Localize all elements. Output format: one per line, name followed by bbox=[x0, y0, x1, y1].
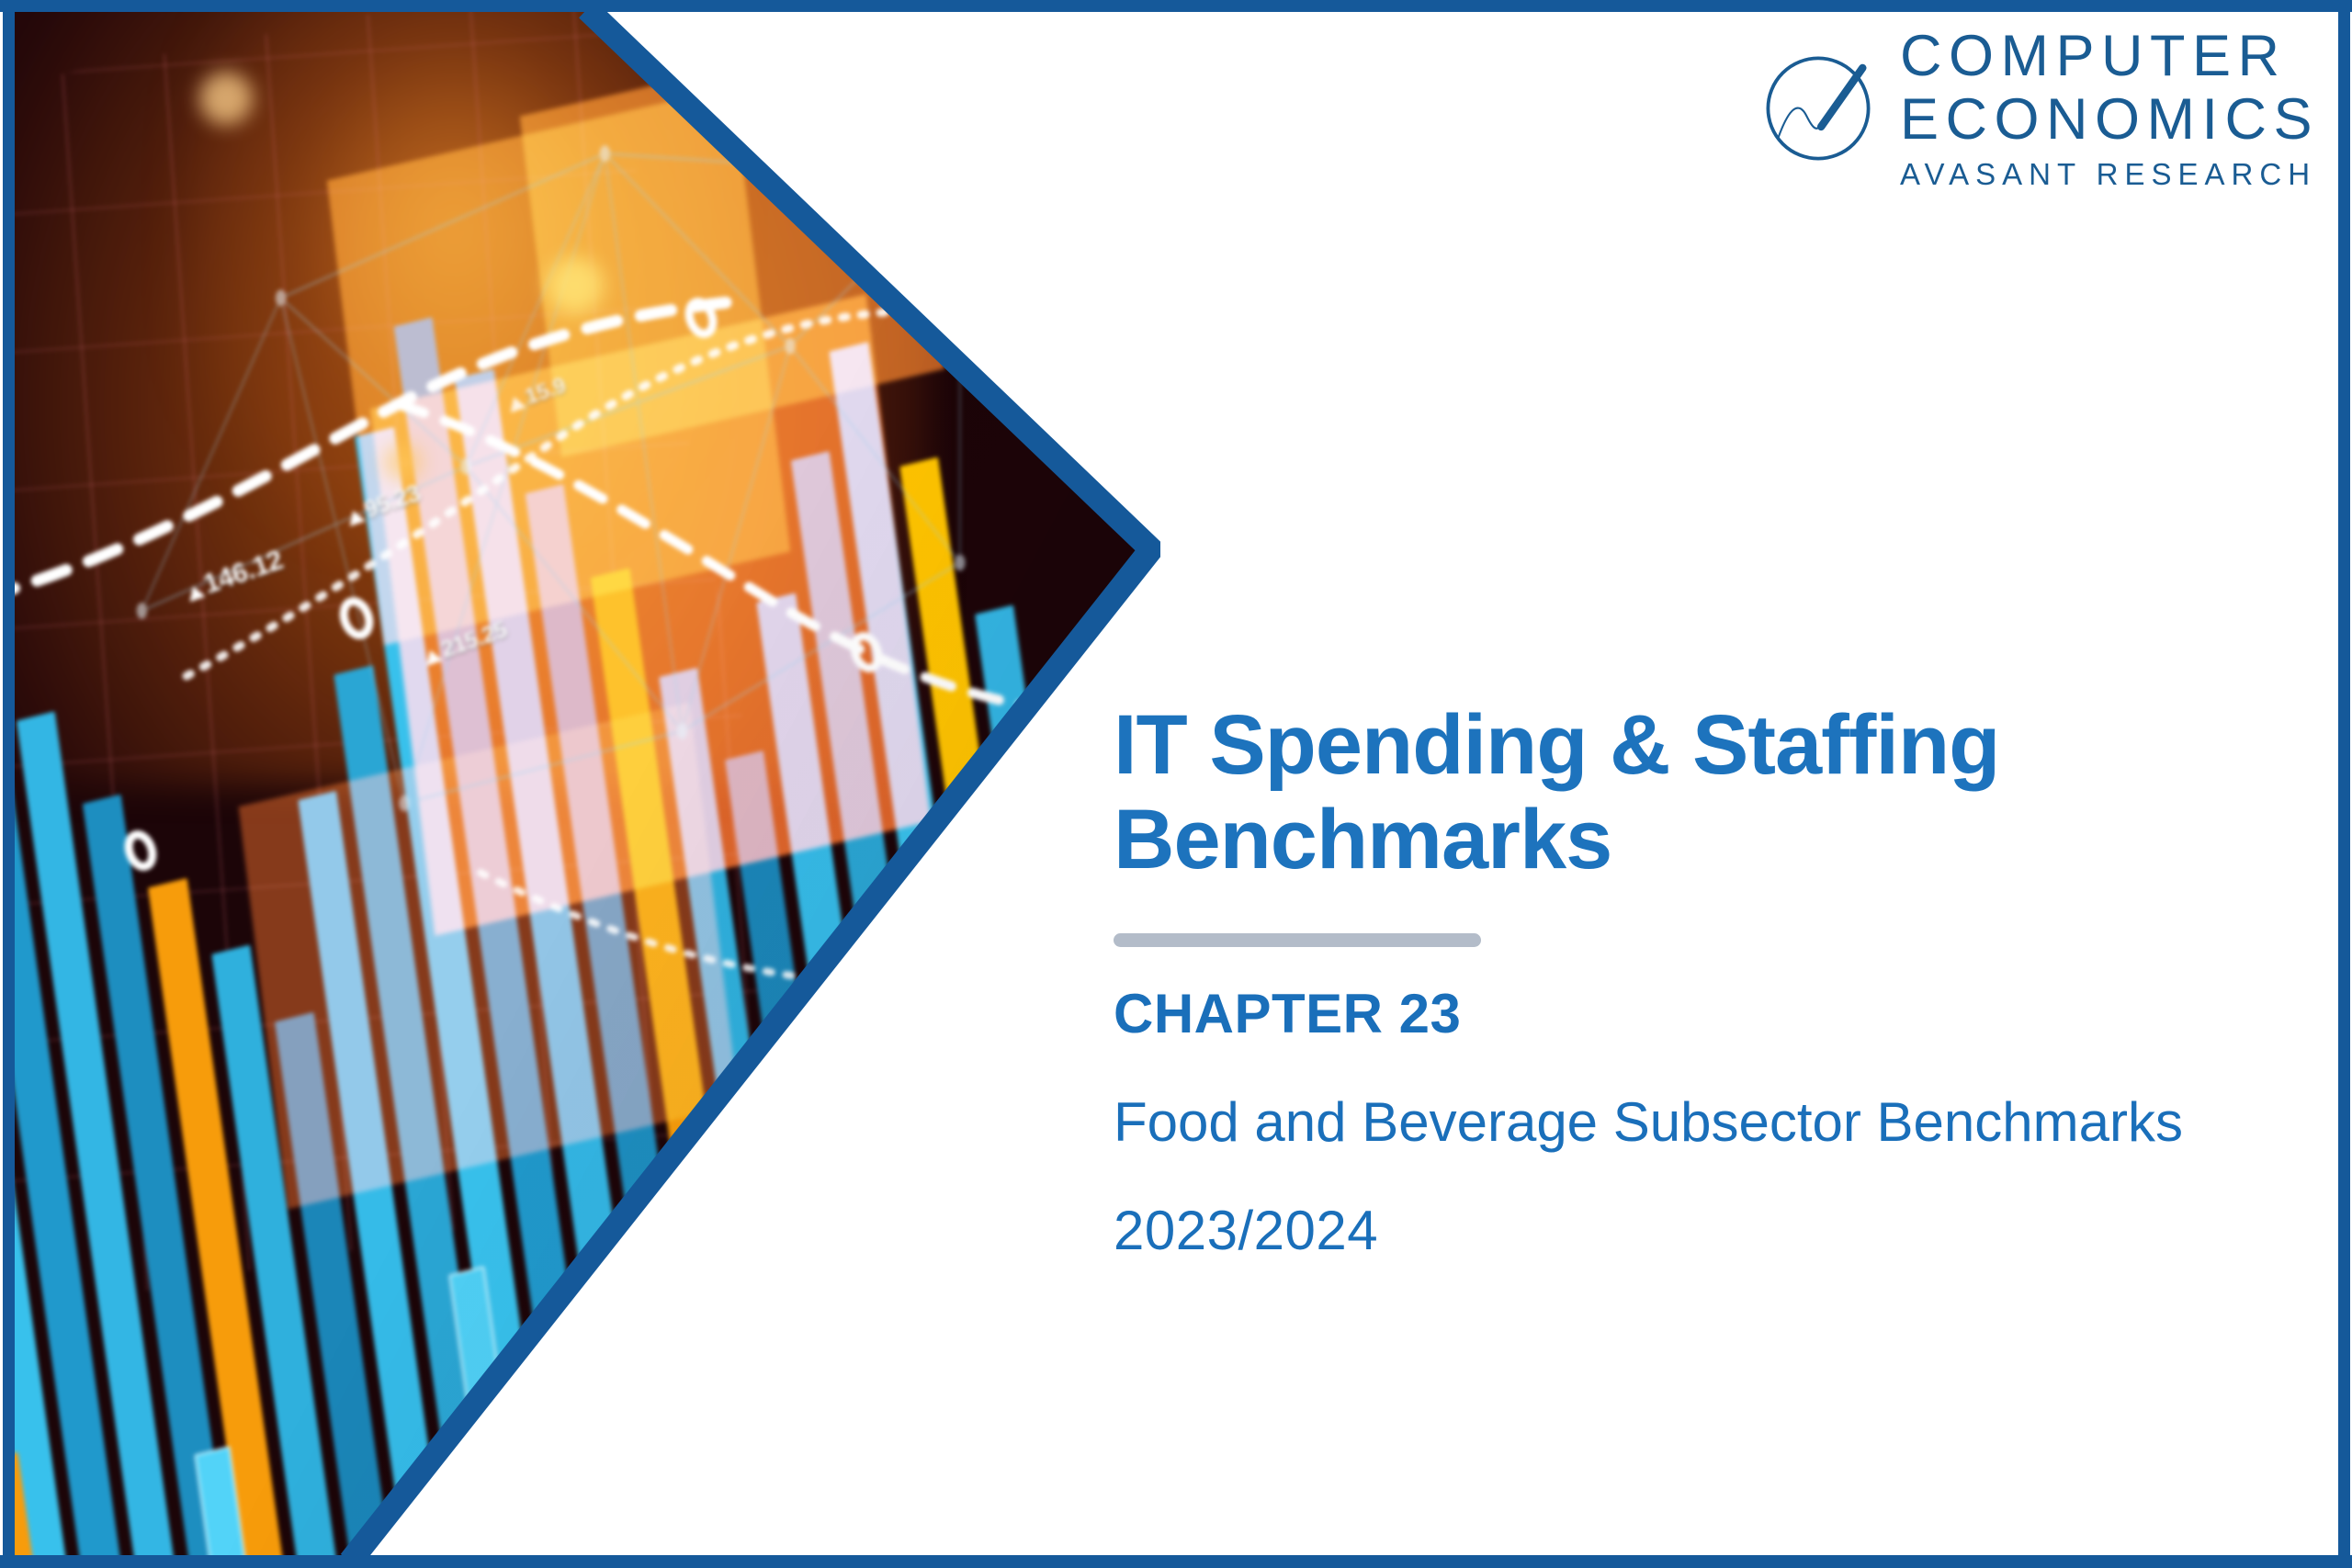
brand-line-avasant-research: AVASANT RESEARCH bbox=[1900, 159, 2319, 189]
cover-artwork: 146.12 95.23 215.25 15.9 bbox=[3, 9, 1160, 1562]
circle-checkmark-logo-icon bbox=[1760, 51, 1876, 166]
cover-slide: 146.12 95.23 215.25 15.9 bbox=[0, 0, 2352, 1568]
triangle-up-icon bbox=[345, 508, 365, 526]
network-mesh-decoration bbox=[96, 9, 1022, 972]
triangle-up-icon bbox=[506, 394, 526, 412]
brand-line-economics: ECONOMICS bbox=[1900, 91, 2319, 149]
title-divider bbox=[1114, 933, 1481, 947]
brand-logo: COMPUTER ECONOMICS AVASANT RESEARCH bbox=[1760, 28, 2319, 189]
triangle-up-icon bbox=[423, 648, 443, 666]
bloom-highlight-3 bbox=[385, 444, 422, 480]
brand-line-computer: COMPUTER bbox=[1900, 28, 2319, 85]
cover-text-column: IT Spending & Staffing Benchmarks CHAPTE… bbox=[1114, 698, 2262, 1262]
frame-border-right bbox=[2338, 0, 2350, 1568]
chapter-subtitle: Food and Beverage Subsector Benchmarks bbox=[1114, 1088, 2262, 1158]
frame-border-bottom bbox=[0, 1555, 2352, 1568]
bloom-highlight-1 bbox=[199, 72, 253, 125]
artwork-canvas: 146.12 95.23 215.25 15.9 bbox=[3, 9, 1160, 1562]
page-title: IT Spending & Staffing Benchmarks bbox=[1114, 698, 2262, 887]
brand-wordmark: COMPUTER ECONOMICS AVASANT RESEARCH bbox=[1900, 28, 2319, 189]
triangle-up-icon bbox=[185, 583, 205, 602]
frame-border-left bbox=[3, 0, 15, 1568]
frame-border-top bbox=[0, 0, 2352, 12]
chapter-label: CHAPTER 23 bbox=[1114, 982, 2262, 1045]
edition-years: 2023/2024 bbox=[1114, 1199, 2262, 1262]
